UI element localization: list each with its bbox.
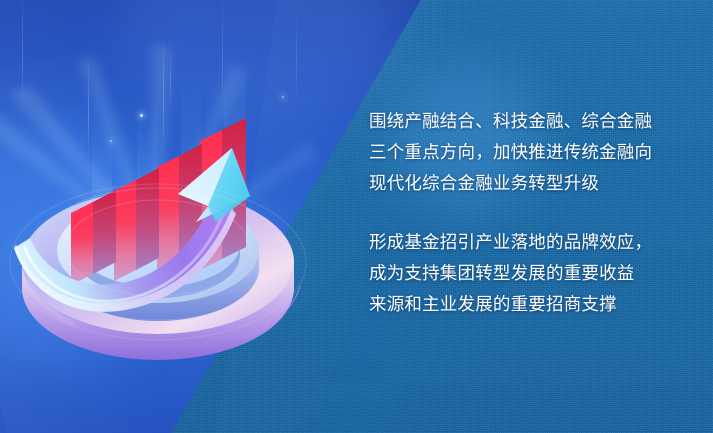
paragraph-2: 形成基金招引产业落地的品牌效应， 成为支持集团转型发展的重要收益 来源和主业发展… — [369, 227, 652, 320]
paragraph-1-line-1: 围绕产融结合、科技金融、综合金融 — [369, 106, 652, 137]
paragraph-2-line-3: 来源和主业发展的重要招商支撑 — [369, 289, 652, 320]
paragraph-1-line-2: 三个重点方向，加快推进传统金融向 — [369, 137, 652, 168]
growth-chart-illustration — [0, 0, 340, 433]
paragraph-1: 围绕产融结合、科技金融、综合金融 三个重点方向，加快推进传统金融向 现代化综合金… — [369, 106, 652, 199]
paragraph-2-line-2: 成为支持集团转型发展的重要收益 — [369, 258, 652, 289]
paragraph-1-line-3: 现代化综合金融业务转型升级 — [369, 168, 652, 199]
banner-root: 围绕产融结合、科技金融、综合金融 三个重点方向，加快推进传统金融向 现代化综合金… — [0, 0, 713, 433]
paragraph-2-line-1: 形成基金招引产业落地的品牌效应， — [369, 227, 652, 258]
